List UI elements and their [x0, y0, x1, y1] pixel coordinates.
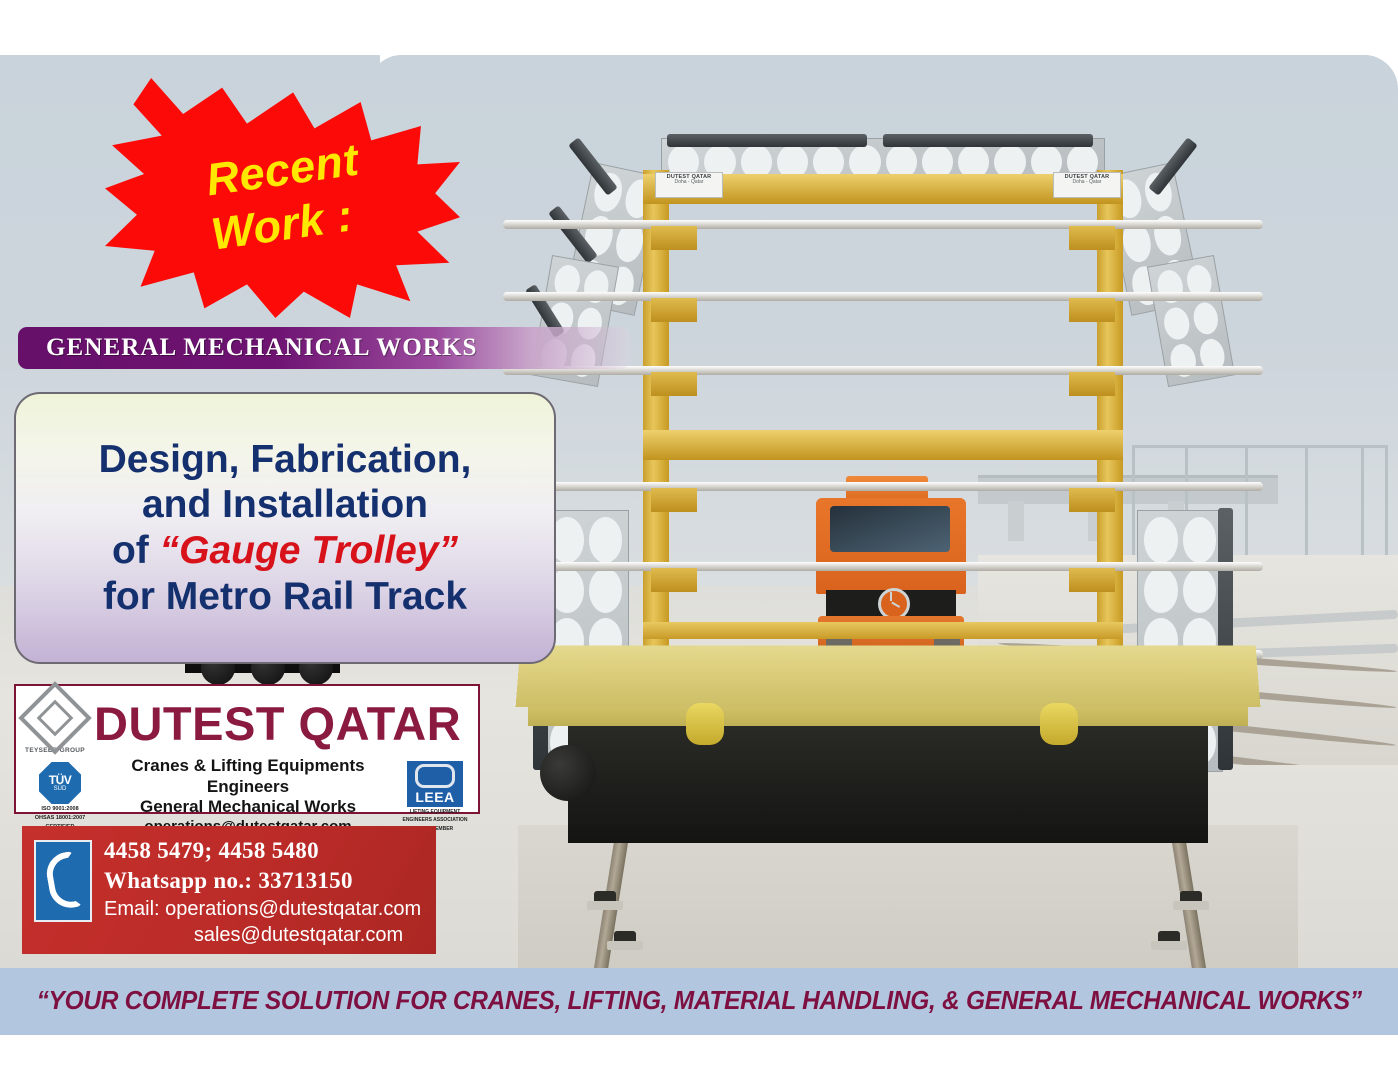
tuv-cert-1: ISO 9001:2008: [24, 806, 96, 813]
rail-fastener: [594, 891, 616, 907]
deck-bumper: [1040, 703, 1078, 745]
telephone-icon: [34, 840, 92, 922]
contact-whatsapp[interactable]: Whatsapp no.: 33713150: [104, 866, 421, 896]
headline-product-name: “Gauge Trolley”: [160, 529, 458, 572]
contact-details: 4458 5479; 4458 5480 Whatsapp no.: 33713…: [104, 836, 421, 948]
subtitle-1: Cranes & Lifting Equipments Engineers: [104, 756, 392, 797]
advertisement-page: DUTEST QATAR Doha - Qatar DUTEST QATAR D…: [0, 0, 1398, 1080]
leea-cert-1: LIFTING EQUIPMENT: [400, 809, 470, 816]
leea-cert-2: ENGINEERS ASSOCIATION: [400, 817, 470, 824]
contact-email-primary[interactable]: Email: operations@dutestqatar.com: [104, 896, 421, 922]
logo-bottom-row: TÜV SÜD ISO 9001:2008 OHSAS 18001:2007 C…: [24, 756, 470, 837]
rail-fastener: [1158, 931, 1180, 947]
company-subtitles: Cranes & Lifting Equipments Engineers Ge…: [104, 756, 392, 837]
chain-link-icon: [415, 764, 455, 788]
contact-box: 4458 5479; 4458 5480 Whatsapp no.: 33713…: [22, 826, 436, 954]
rail-bracket: [1069, 488, 1115, 512]
rail-bracket: [651, 226, 697, 250]
dark-bar: [1218, 508, 1233, 770]
trolley-wheel: [540, 745, 596, 801]
company-logo-box: TEYSEER GROUP DUTEST QATAR TÜV SÜD ISO 9…: [14, 684, 480, 814]
rail-bracket: [651, 568, 697, 592]
rail-bracket: [1069, 298, 1115, 322]
gauge-rail: [503, 562, 1263, 571]
headline-line-4: for Metro Rail Track: [103, 574, 467, 620]
gauge-rail: [503, 220, 1263, 229]
company-tagline-bar: “YOUR COMPLETE SOLUTION FOR CRANES, LIFT…: [0, 968, 1398, 1035]
dark-bar: [883, 134, 1093, 147]
tuv-octagon-icon: TÜV SÜD: [39, 762, 81, 804]
tuv-sub: SÜD: [54, 786, 67, 792]
contact-email-sales[interactable]: sales@dutestqatar.com: [104, 922, 421, 948]
leea-badge: LEEA LIFTING EQUIPMENT ENGINEERS ASSOCIA…: [400, 761, 470, 833]
diamond-icon: [18, 681, 92, 755]
subtitle-2: General Mechanical Works: [104, 797, 392, 818]
logo-top-row: TEYSEER GROUP DUTEST QATAR: [24, 692, 470, 754]
brand-name: DUTEST QATAR: [94, 700, 470, 747]
headline-line-3: of “Gauge Trolley”: [112, 528, 458, 574]
trolley-deck: [516, 645, 1261, 707]
rail-bracket: [1069, 568, 1115, 592]
equipment-nameplate: DUTEST QATAR Doha - Qatar: [655, 172, 723, 198]
category-banner-label: GENERAL MECHANICAL WORKS: [18, 334, 478, 362]
tuv-mark: TÜV: [49, 774, 72, 786]
dark-bar: [667, 134, 867, 147]
gauge-rail: [503, 482, 1263, 491]
tuv-cert-2: OHSAS 18001:2007: [24, 815, 96, 822]
rail-bracket: [651, 488, 697, 512]
rail-bracket: [1069, 226, 1115, 250]
trolley-beam: [643, 622, 1123, 639]
deck-bumper: [686, 703, 724, 745]
headline-box: Design, Fabrication, and Installation of…: [14, 392, 556, 664]
trolley-undercarriage: [568, 723, 1208, 843]
headline-line-1: Design, Fabrication,: [99, 437, 472, 483]
tuv-sud-badge: TÜV SÜD ISO 9001:2008 OHSAS 18001:2007 C…: [24, 762, 96, 831]
rail-bracket: [651, 298, 697, 322]
gauge-rail: [503, 292, 1263, 301]
company-tagline: “YOUR COMPLETE SOLUTION FOR CRANES, LIFT…: [36, 987, 1361, 1016]
contact-phones[interactable]: 4458 5479; 4458 5480: [104, 836, 421, 866]
teyseer-group-logo: TEYSEER GROUP: [24, 692, 86, 754]
rail-bracket: [1069, 372, 1115, 396]
category-banner: GENERAL MECHANICAL WORKS: [18, 327, 630, 369]
rail-bracket: [651, 372, 697, 396]
equipment-nameplate: DUTEST QATAR Doha - Qatar: [1053, 172, 1121, 198]
leea-box-icon: LEEA: [407, 761, 463, 807]
trolley-beam: [643, 430, 1123, 460]
leea-mark: LEEA: [415, 789, 454, 805]
headline-line-3-prefix: of: [112, 529, 160, 572]
rail-fastener: [614, 931, 636, 947]
headline-line-2: and Installation: [142, 482, 428, 528]
rail-fastener: [1180, 891, 1202, 907]
